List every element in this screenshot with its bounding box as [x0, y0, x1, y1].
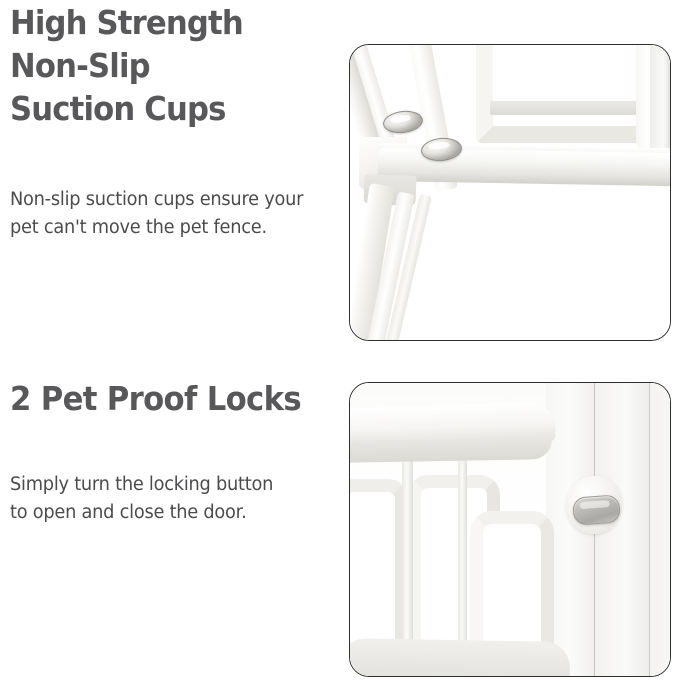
- suction-cup-upper-highlight: [390, 114, 411, 123]
- suction-cup-scene: [350, 45, 670, 340]
- product-feature-infographic: High Strength Non-Slip Suction Cups Non-…: [0, 0, 679, 683]
- feature-headline-suction-cups: High Strength Non-Slip Suction Cups: [10, 2, 317, 131]
- feature-body-pet-proof-locks: Simply turn the locking button to open a…: [10, 471, 327, 527]
- door-seam-right: [649, 383, 650, 676]
- suction-cup-lower-highlight: [428, 142, 450, 151]
- lock-button-scene: [350, 383, 670, 676]
- fence-top-header-underside: [349, 437, 552, 463]
- feature-image-suction-cups: [349, 44, 671, 341]
- lock-button-knob: [572, 494, 621, 525]
- feature-text-pet-proof-locks: 2 Pet Proof Locks Simply turn the lockin…: [10, 378, 340, 527]
- feature-headline-pet-proof-locks: 2 Pet Proof Locks: [10, 378, 317, 421]
- feature-body-suction-cups: Non-slip suction cups ensure your pet ca…: [10, 186, 327, 242]
- feature-image-pet-proof-locks: [349, 382, 671, 677]
- fence-bottom-rail: [349, 638, 570, 677]
- door-panel-right: [650, 383, 671, 676]
- lock-button-knob-highlight: [579, 500, 609, 509]
- feature-text-suction-cups: High Strength Non-Slip Suction Cups Non-…: [10, 2, 340, 242]
